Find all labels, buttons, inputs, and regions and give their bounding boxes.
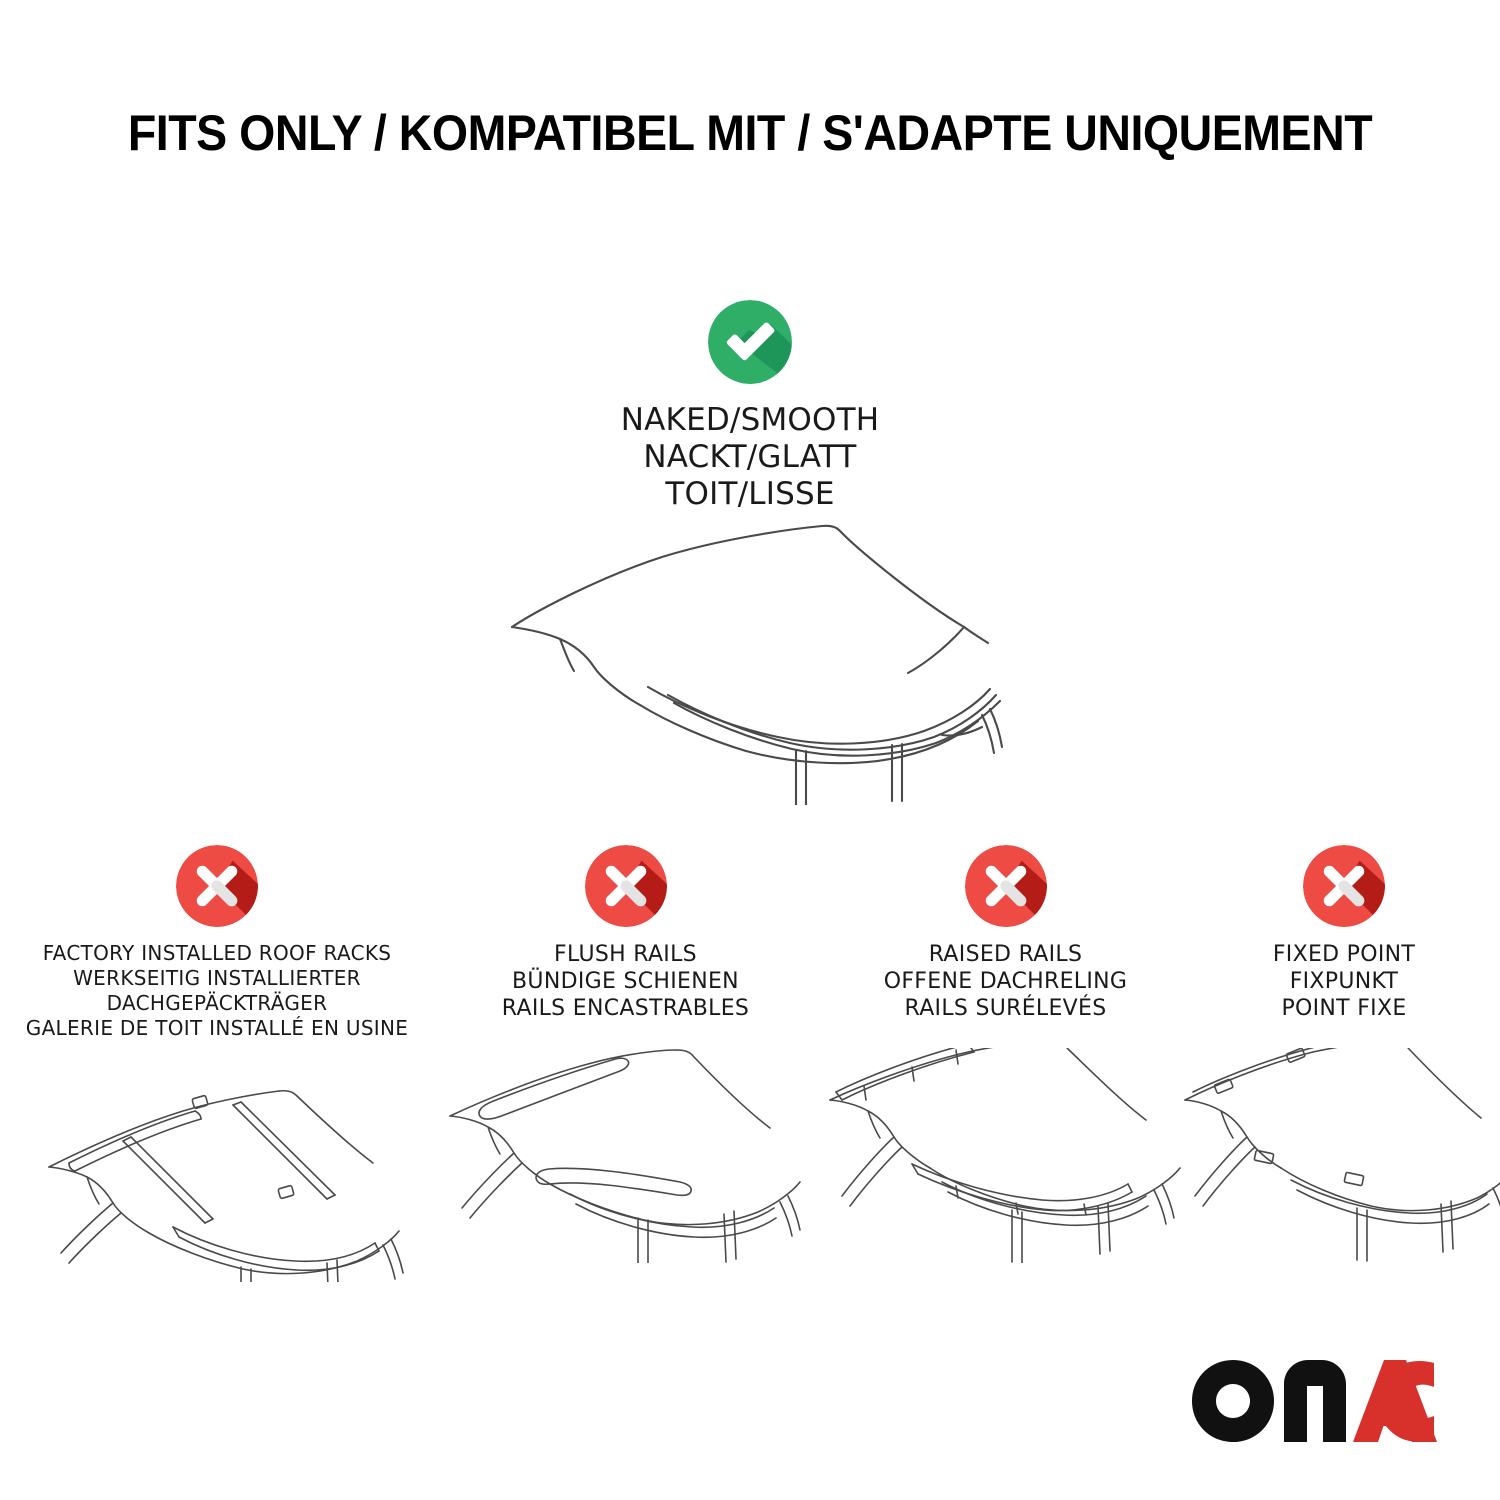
label-line-3: RAILS SURÉLEVÉS [884,995,1128,1022]
label-line-3: DACHGEPÄCKTRÄGER [26,991,408,1016]
cross-circle-icon [965,845,1047,927]
fitment-option-fixed-point: FIXED POINT FIXPUNKT POINT FIXE [1189,845,1499,1263]
label-line-1: FACTORY INSTALLED ROOF RACKS [26,941,408,966]
approved-label-line-2: NACKT/GLATT [621,439,880,476]
cross-circle-icon [176,845,258,927]
label-line-3: RAILS ENCASTRABLES [502,995,749,1022]
label-line-2: FIXPUNKT [1273,968,1415,995]
fitment-option-label: FIXED POINT FIXPUNKT POINT FIXE [1273,941,1415,1022]
fitment-option-label: FACTORY INSTALLED ROOF RACKS WERKSEITIG … [26,941,408,1041]
fitment-option-raised-rails: RAISED RAILS OFFENE DACHRELING RAILS SUR… [828,845,1183,1263]
roof-with-factory-racks-diagram [27,1067,407,1282]
roof-with-raised-rails-diagram [816,1048,1196,1263]
approved-label: NAKED/SMOOTH NACKT/GLATT TOIT/LISSE [621,402,880,513]
roof-with-fixed-points-diagram [1179,1048,1500,1263]
cross-circle-icon [585,845,667,927]
smooth-car-roof-diagram [490,515,1030,805]
label-line-4: GALERIE DE TOIT INSTALLÉ EN USINE [26,1016,408,1041]
fitment-compatibility-graphic: FITS ONLY / KOMPATIBEL MIT / S'ADAPTE UN… [0,0,1500,1500]
logo-letter-o [1192,1360,1274,1442]
cross-circle-icon [1303,845,1385,927]
label-line-1: RAISED RAILS [884,941,1128,968]
approved-label-line-3: TOIT/LISSE [621,476,880,513]
label-line-3: POINT FIXE [1273,995,1415,1022]
label-line-1: FLUSH RAILS [502,941,749,968]
label-line-2: WERKSEITIG INSTALLIERTER [26,966,408,991]
label-line-2: OFFENE DACHRELING [884,968,1128,995]
fitment-option-factory-installed-roof-racks: FACTORY INSTALLED ROOF RACKS WERKSEITIG … [2,845,432,1282]
roof-with-flush-rails-diagram [436,1048,816,1263]
page-title: FITS ONLY / KOMPATIBEL MIT / S'ADAPTE UN… [53,104,1448,162]
omac-logo [1192,1360,1442,1442]
approved-fitment-block: NAKED/SMOOTH NACKT/GLATT TOIT/LISSE [0,300,1500,513]
fitment-option-flush-rails: FLUSH RAILS BÜNDIGE SCHIENEN RAILS ENCAS… [438,845,813,1263]
label-line-1: FIXED POINT [1273,941,1415,968]
check-circle-icon [708,300,792,384]
not-supported-row: FACTORY INSTALLED ROOF RACKS WERKSEITIG … [0,845,1500,1282]
fitment-option-label: FLUSH RAILS BÜNDIGE SCHIENEN RAILS ENCAS… [502,941,749,1022]
omac-logo-mark [1192,1360,1442,1442]
fitment-option-label: RAISED RAILS OFFENE DACHRELING RAILS SUR… [884,941,1128,1022]
logo-letter-m [1284,1360,1346,1442]
label-line-2: BÜNDIGE SCHIENEN [502,968,749,995]
approved-label-line-1: NAKED/SMOOTH [621,402,880,439]
